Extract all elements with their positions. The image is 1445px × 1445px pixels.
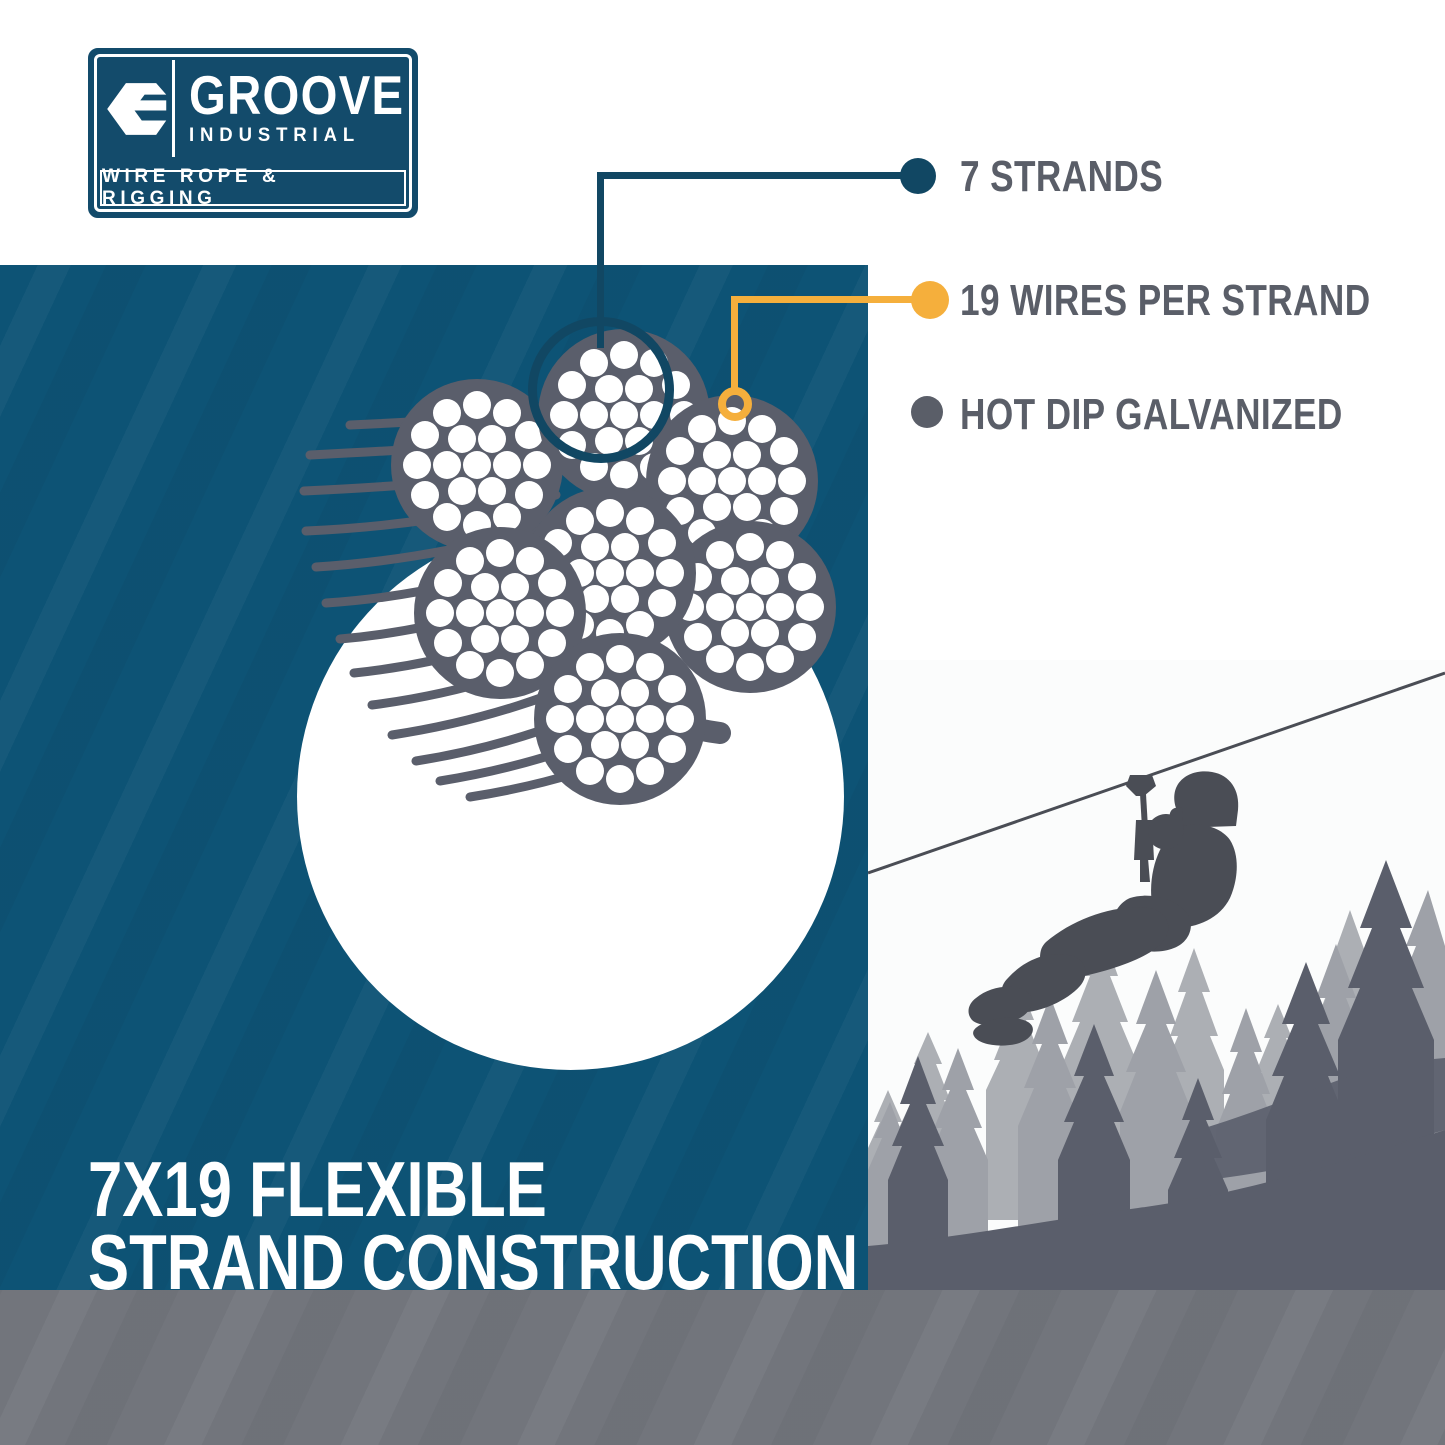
page-title-line-1: 7X19 FLEXIBLE (88, 1153, 688, 1226)
callout-label-galvanized: HOT DIP GALVANIZED (960, 390, 1343, 440)
orange-dot-marker (911, 281, 949, 319)
logo-top-band: GROOVE INDUSTRIAL (100, 60, 406, 157)
leader-line-horizontal-wires (731, 296, 931, 303)
zipline-rider-forest-scene (868, 660, 1445, 1290)
logo-brand-sub: INDUSTRIAL (189, 124, 427, 147)
gray-dot-marker (911, 396, 943, 428)
logo-tagline-band: WIRE ROPE & RIGGING (100, 170, 406, 206)
groove-g-icon (100, 60, 175, 157)
bottom-accent-bar (0, 1290, 1445, 1445)
infographic-canvas: GROOVE INDUSTRIAL WIRE ROPE & RIGGING 7X… (0, 0, 1445, 1445)
logo-wordmark: GROOVE INDUSTRIAL (175, 60, 439, 157)
bottom-bar-stripe-texture (0, 1290, 1445, 1445)
page-title: 7X19 FLEXIBLE STRAND CONSTRUCTION (88, 1153, 688, 1290)
page-title-line-2: STRAND CONSTRUCTION (88, 1226, 688, 1290)
leader-line-vertical-wires (731, 296, 738, 394)
logo-brand-name: GROOVE (189, 70, 404, 121)
leader-line-horizontal-strands (597, 172, 922, 179)
leader-line-vertical-strands (597, 172, 604, 348)
callout-label-wires: 19 WIRES PER STRAND (960, 276, 1371, 326)
blue-dot-marker (900, 158, 936, 194)
brand-logo[interactable]: GROOVE INDUSTRIAL WIRE ROPE & RIGGING (88, 48, 418, 218)
callout-label-strands: 7 STRANDS (960, 152, 1163, 202)
logo-tagline: WIRE ROPE & RIGGING (102, 166, 404, 210)
